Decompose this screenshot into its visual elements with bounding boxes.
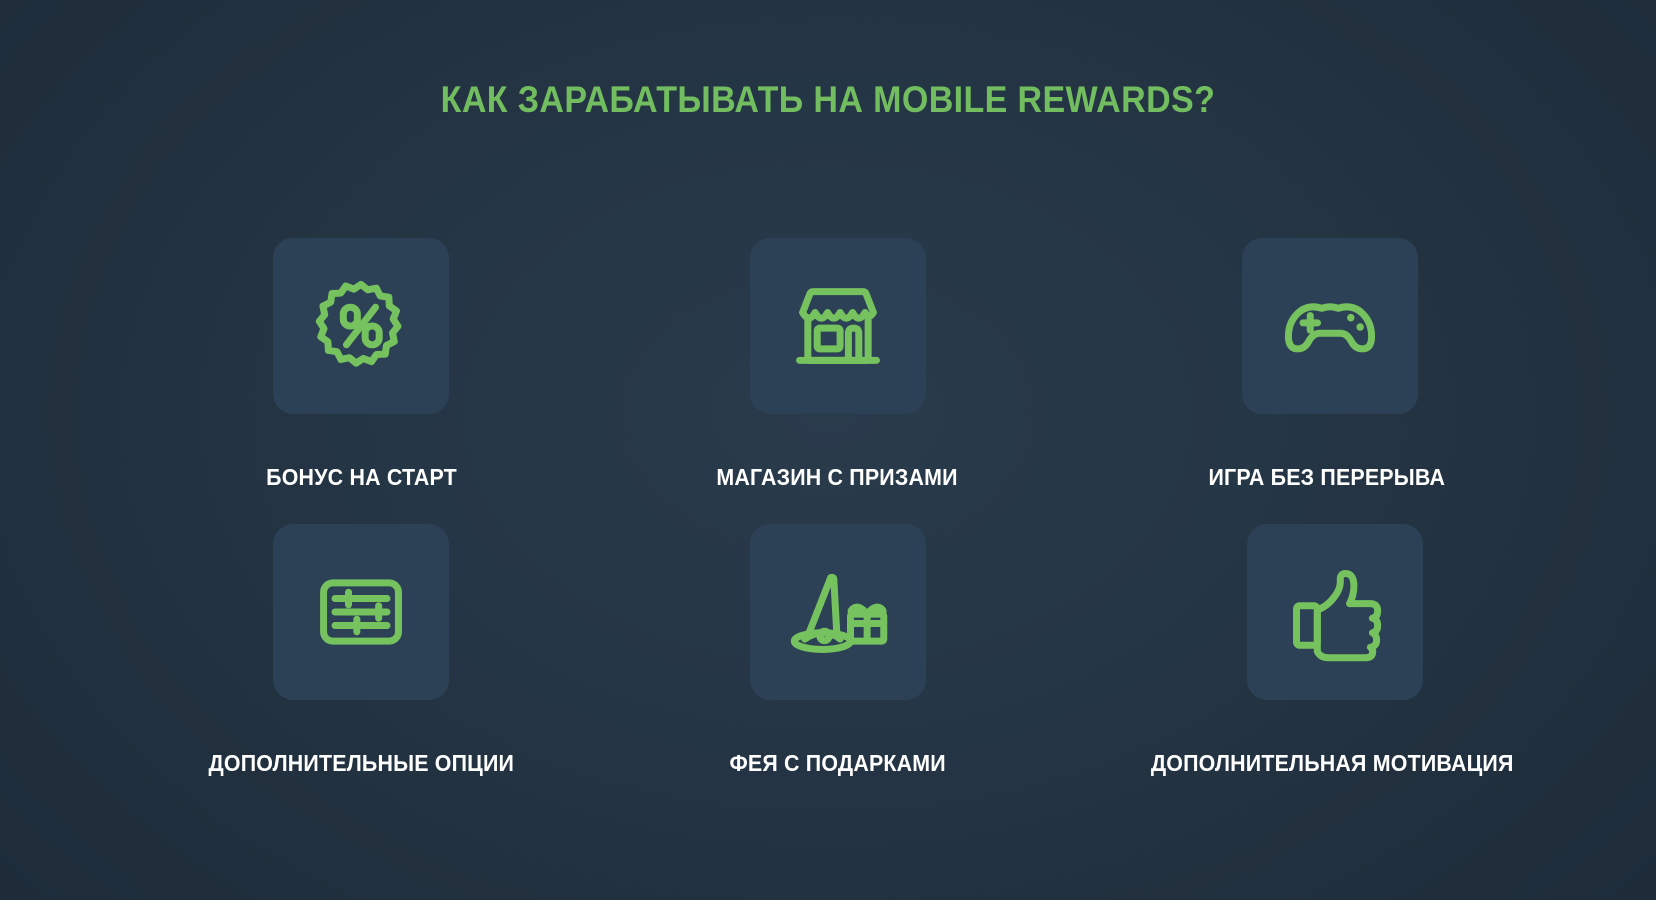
wizard-hat-gift-icon <box>786 560 890 664</box>
page-background: КАК ЗАРАБАТЫВАТЬ НА MOBILE REWARDS? БОНУ… <box>0 0 1656 900</box>
feature-card[interactable]: БОНУС НА СТАРТ <box>128 238 595 524</box>
feature-icon-tile <box>1242 238 1418 414</box>
feature-label: ДОПОЛНИТЕЛЬНАЯ МОТИВАЦИЯ <box>1151 750 1514 777</box>
feature-icon-tile <box>273 524 449 700</box>
page-title-container: КАК ЗАРАБАТЫВАТЬ НА MOBILE REWARDS? <box>0 78 1656 122</box>
sliders-settings-icon <box>309 560 413 664</box>
feature-icon-tile <box>1247 524 1423 700</box>
feature-card[interactable]: ДОПОЛНИТЕЛЬНЫЕ ОПЦИИ <box>128 524 595 810</box>
storefront-icon <box>786 274 890 378</box>
feature-icon-tile <box>750 524 926 700</box>
feature-grid: БОНУС НА СТАРТ МАГАЗИН С ПРИЗАМИ <box>128 238 1528 810</box>
feature-label: ДОПОЛНИТЕЛЬНЫЕ ОПЦИИ <box>209 750 515 777</box>
percent-badge-icon <box>309 274 413 378</box>
feature-card[interactable]: ИГРА БЕЗ ПЕРЕРЫВА <box>1061 238 1528 524</box>
feature-card[interactable]: ДОПОЛНИТЕЛЬНАЯ МОТИВАЦИЯ <box>1061 524 1528 810</box>
gamepad-icon <box>1278 274 1382 378</box>
feature-icon-tile <box>273 238 449 414</box>
feature-label: БОНУС НА СТАРТ <box>266 464 457 491</box>
feature-label: ФЕЯ С ПОДАРКАМИ <box>729 750 945 777</box>
thumbs-up-icon <box>1283 560 1387 664</box>
feature-card[interactable]: ФЕЯ С ПОДАРКАМИ <box>595 524 1062 810</box>
feature-card[interactable]: МАГАЗИН С ПРИЗАМИ <box>595 238 1062 524</box>
feature-label: МАГАЗИН С ПРИЗАМИ <box>717 464 958 491</box>
page-title: КАК ЗАРАБАТЫВАТЬ НА MOBILE REWARDS? <box>441 78 1216 122</box>
feature-icon-tile <box>750 238 926 414</box>
feature-label: ИГРА БЕЗ ПЕРЕРЫВА <box>1209 464 1446 491</box>
